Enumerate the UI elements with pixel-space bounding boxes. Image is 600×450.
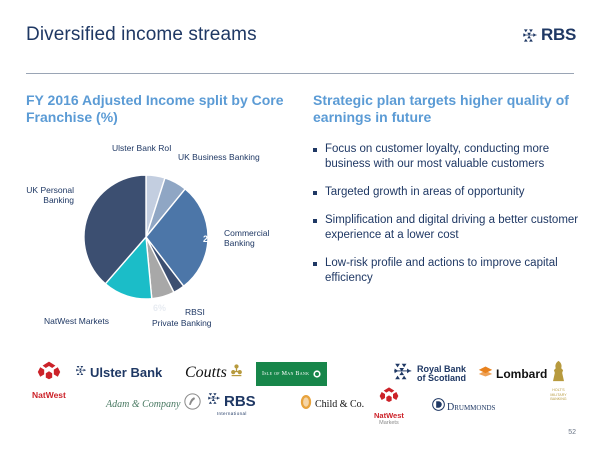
rbs-daisy-icon [208, 392, 221, 410]
header-divider [26, 73, 574, 74]
pie-value-personal: 39% [67, 205, 85, 215]
pie-value-ulster: 5% [146, 157, 159, 167]
bullet-text: Focus on customer loyalty, conducting mo… [325, 142, 585, 172]
brand-drummonds-label: Drummonds [447, 402, 495, 413]
pie-value-rbsi: 3% [180, 290, 193, 300]
brand-isle-of-man-bank-label: Isle of Man Bank [262, 371, 309, 377]
bullet-square-icon [313, 219, 317, 223]
rbs-daisy-icon [76, 363, 87, 381]
brand-holts-line3: BANKING [550, 397, 566, 402]
brand-rbos-line2: of Scotland [417, 374, 466, 384]
rbs-logo: RBS [523, 25, 576, 45]
chart-heading: FY 2016 Adjusted Income split by Core Fr… [26, 92, 286, 126]
brand-natwest-markets: NatWest Markets [374, 386, 404, 426]
brand-natwest-label: NatWest [32, 390, 66, 400]
slide-root: Diversified income streams RBS FY 2016 A… [0, 0, 600, 450]
brand-child-co: Child & Co. [300, 394, 364, 415]
rbs-daisy-icon [523, 28, 538, 43]
brand-natwest-markets-label: NatWest [374, 411, 404, 420]
bullet-item: Targeted growth in areas of opportunity [313, 185, 585, 200]
lombard-icon [478, 365, 493, 383]
coutts-crest-icon [230, 363, 243, 383]
brand-royal-bank-of-scotland: Royal Bank of Scotland [394, 362, 466, 386]
pie-label-natwest-markets: NatWest Markets [44, 316, 109, 326]
brand-holts: HOLT'S MILITARY BANKING [550, 360, 567, 402]
brand-lombard: Lombard [478, 365, 547, 383]
pie-label-personal: UK Personal Banking [8, 185, 74, 205]
drummonds-icon [432, 398, 445, 416]
brand-coutts-label: Coutts [185, 364, 227, 382]
brand-rbs-international-sub: International [217, 411, 247, 416]
rbs-wordmark: RBS [541, 25, 576, 45]
bullet-text: Low-risk profile and actions to improve … [325, 256, 585, 286]
brand-adam-company-label: Adam & Company [106, 399, 180, 410]
pie-label-rbsi: RBSI [185, 307, 205, 317]
child-co-icon [300, 394, 312, 415]
brand-lombard-label: Lombard [496, 367, 547, 381]
pie-label-ukbusiness: UK Business Banking [178, 152, 260, 162]
brand-adam-company: Adam & Company [106, 393, 201, 415]
pie-label-commercial: Commercial Banking [224, 228, 269, 248]
bullet-square-icon [313, 262, 317, 266]
isle-of-man-icon [313, 365, 321, 383]
rbs-daisy-icon [394, 362, 413, 386]
bullet-text: Targeted growth in areas of opportunity [325, 185, 524, 200]
pie-value-natwest-markets: 13% [112, 296, 130, 306]
adam-company-seal-icon [184, 393, 201, 415]
brand-ulster-bank: Ulster Bank [76, 363, 162, 381]
natwest-cube-icon [378, 386, 400, 411]
brand-ulster-bank-label: Ulster Bank [90, 365, 162, 380]
pie-label-private: Private Banking [152, 318, 212, 328]
brand-isle-of-man-bank: Isle of Man Bank [256, 362, 327, 386]
pie-value-commercial: 29% [203, 234, 221, 244]
page-number: 52 [568, 429, 576, 436]
brand-logo-strip: NatWest Ulster Bank Coutts [22, 358, 578, 420]
brand-drummonds: Drummonds [432, 398, 495, 416]
brand-child-co-label: Child & Co. [315, 399, 364, 410]
bullet-list: Focus on customer loyalty, conducting mo… [313, 142, 585, 299]
page-title: Diversified income streams [26, 24, 257, 46]
bullet-item: Simplification and digital driving a bet… [313, 213, 585, 243]
bullet-square-icon [313, 148, 317, 152]
bullet-item: Focus on customer loyalty, conducting mo… [313, 142, 585, 172]
brand-coutts: Coutts [185, 363, 243, 383]
pie-label-ulster: Ulster Bank RoI [112, 143, 172, 153]
brand-natwest-markets-sub: Markets [379, 420, 399, 426]
pie-value-private: 6% [153, 303, 166, 313]
bullet-text: Simplification and digital driving a bet… [325, 213, 585, 243]
brand-natwest: NatWest [32, 360, 66, 400]
pie-value-ukbusiness: 6% [170, 167, 183, 177]
bullets-heading: Strategic plan targets higher quality of… [313, 92, 583, 126]
bullet-item: Low-risk profile and actions to improve … [313, 256, 585, 286]
brand-rbs-international: RBS International [208, 392, 256, 416]
bullet-square-icon [313, 191, 317, 195]
holts-icon [550, 360, 567, 387]
pie-chart: Ulster Bank RoI UK Business Banking Comm… [0, 130, 300, 345]
natwest-cube-icon [36, 360, 62, 389]
brand-rbs-label: RBS [224, 393, 256, 410]
